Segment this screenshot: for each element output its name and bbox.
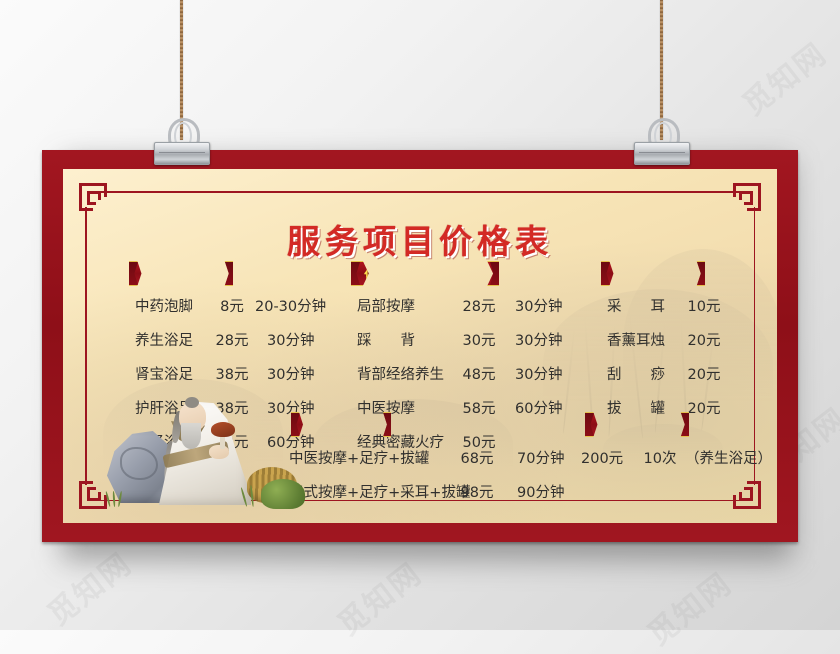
item-duration: 60分钟 xyxy=(505,397,562,418)
item-name: 泰式按摩+足疗+采耳+拔罐 xyxy=(289,481,449,502)
binder-clip-right[interactable] xyxy=(634,118,688,170)
price-row: 中医按摩 58元 60分钟 xyxy=(357,397,592,418)
price-board: 服务项目价格表 足浴系列： 中药泡脚 8元 20-30分钟 养生浴足 28元 3… xyxy=(42,150,798,542)
item-name: 踩 背 xyxy=(357,329,453,350)
clip-body xyxy=(154,142,210,165)
price-row: 肾宝浴足 38元 30分钟 xyxy=(135,363,350,384)
item-price: 38元 xyxy=(209,363,255,384)
grass-blade xyxy=(112,491,115,507)
price-row: 200元 10次 （养生浴足） xyxy=(581,447,777,468)
green-bush xyxy=(261,479,305,509)
sage-topknot xyxy=(185,397,199,408)
item-price: 8元 xyxy=(209,295,255,316)
board-inner-paper: 服务项目价格表 足浴系列： 中药泡脚 8元 20-30分钟 养生浴足 28元 3… xyxy=(63,169,777,523)
ribbon-massage: 保健推拿按摩系列： xyxy=(351,261,499,286)
item-price: 68元 xyxy=(449,447,505,468)
watermark: 觅知网 xyxy=(732,30,835,124)
lingzhi-stem xyxy=(220,435,225,449)
item-name: 养生浴足 xyxy=(135,329,209,350)
item-duration: 30分钟 xyxy=(505,295,562,316)
ribbon-others: 其它系列： xyxy=(601,261,705,286)
item-price: 98元 xyxy=(449,481,505,502)
sage-hands xyxy=(209,445,229,459)
item-name: 200元 xyxy=(581,447,635,468)
ribbon-foot-bath: 足浴系列： xyxy=(129,261,233,286)
section-massage: 局部按摩 28元 30分钟 踩 背 30元 30分钟 背部经络养生 48元 30… xyxy=(357,295,592,465)
item-duration: （养生浴足） xyxy=(685,447,772,468)
item-name: 中医按摩+足疗+拔罐 xyxy=(289,447,449,468)
item-duration: 30分钟 xyxy=(255,363,314,384)
item-price: 30元 xyxy=(453,329,505,350)
inner-border-top xyxy=(101,191,739,193)
binder-clip-left[interactable] xyxy=(154,118,208,170)
page-title: 服务项目价格表 xyxy=(63,215,777,263)
item-price: 10次 xyxy=(635,447,685,468)
item-price: 10元 xyxy=(681,295,727,316)
item-price: 20元 xyxy=(681,329,727,350)
item-name: 中药泡脚 xyxy=(135,295,209,316)
item-name: 刮 痧 xyxy=(607,363,681,384)
clip-body xyxy=(634,142,690,165)
price-row: 踩 背 30元 30分钟 xyxy=(357,329,592,350)
item-price: 28元 xyxy=(453,295,505,316)
section-membership: 200元 10次 （养生浴足） xyxy=(581,447,777,481)
price-row: 刮 痧 20元 xyxy=(607,363,767,384)
sage-illustration xyxy=(101,391,291,509)
item-duration: 30分钟 xyxy=(255,329,314,350)
item-price: 48元 xyxy=(453,363,505,384)
sage-beard xyxy=(181,423,201,449)
lingzhi-mushroom-icon xyxy=(211,422,235,437)
section-others: 采 耳 10元 香薰耳烛 20元 刮 痧 20元 拔 罐 20元 xyxy=(607,295,767,431)
item-price: 20元 xyxy=(681,363,727,384)
item-name: 肾宝浴足 xyxy=(135,363,209,384)
price-row: 采 耳 10元 xyxy=(607,295,767,316)
price-row: 背部经络养生 48元 30分钟 xyxy=(357,363,592,384)
item-duration: 90分钟 xyxy=(505,481,564,502)
price-row: 局部按摩 28元 30分钟 xyxy=(357,295,592,316)
item-name: 采 耳 xyxy=(607,295,681,316)
item-name: 中医按摩 xyxy=(357,397,453,418)
price-row: 香薰耳烛 20元 xyxy=(607,329,767,350)
item-duration: 30分钟 xyxy=(505,329,562,350)
price-row: 泰式按摩+足疗+采耳+拔罐 98元 90分钟 xyxy=(289,481,589,502)
item-name: 局部按摩 xyxy=(357,295,453,316)
item-name: 背部经络养生 xyxy=(357,363,453,384)
section-packages: 中医按摩+足疗+拔罐 68元 70分钟 泰式按摩+足疗+采耳+拔罐 98元 90… xyxy=(289,447,589,515)
item-name: 拔 罐 xyxy=(607,397,681,418)
watermark: 觅知网 xyxy=(637,560,740,654)
item-duration: 30分钟 xyxy=(505,363,562,384)
item-price: 28元 xyxy=(209,329,255,350)
item-name: 香薰耳烛 xyxy=(607,329,681,350)
item-price: 58元 xyxy=(453,397,505,418)
price-row: 中药泡脚 8元 20-30分钟 xyxy=(135,295,350,316)
grass-blade xyxy=(105,491,111,507)
price-row: 养生浴足 28元 30分钟 xyxy=(135,329,350,350)
price-row: 中医按摩+足疗+拔罐 68元 70分钟 xyxy=(289,447,589,468)
item-duration: 20-30分钟 xyxy=(255,295,326,316)
item-duration: 70分钟 xyxy=(505,447,564,468)
